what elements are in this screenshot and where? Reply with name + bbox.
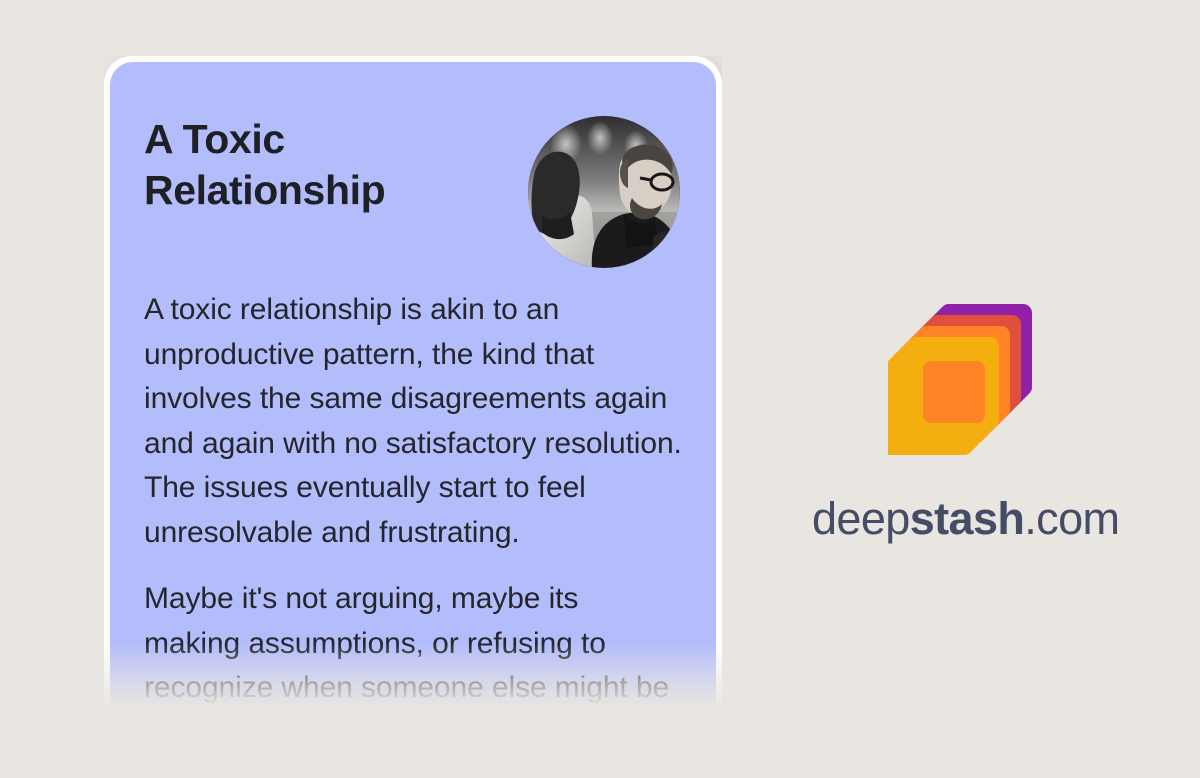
page-title: A Toxic Relationship (144, 114, 474, 216)
brand-block: deepstash.com (812, 300, 1114, 541)
brand-word-tld: .com (1024, 493, 1119, 544)
brand-wordmark: deepstash.com (812, 496, 1114, 541)
page-root: A Toxic Relationship (0, 0, 1200, 778)
brand-word-deep: deep (812, 493, 910, 544)
deepstash-logo-icon (888, 300, 1038, 458)
card-header: A Toxic Relationship (144, 114, 682, 264)
card-thumbnail (528, 116, 680, 268)
idea-card[interactable]: A Toxic Relationship (104, 56, 722, 718)
card-body: A toxic relationship is akin to an unpro… (144, 288, 682, 718)
paragraph-2: Maybe it's not arguing, maybe its making… (144, 577, 682, 718)
brand-word-stash: stash (910, 493, 1025, 544)
paragraph-1: A toxic relationship is akin to an unpro… (144, 288, 682, 555)
card-frame: A Toxic Relationship (104, 56, 722, 718)
card-surface: A Toxic Relationship (110, 62, 716, 718)
couple-photo-icon (528, 116, 680, 268)
